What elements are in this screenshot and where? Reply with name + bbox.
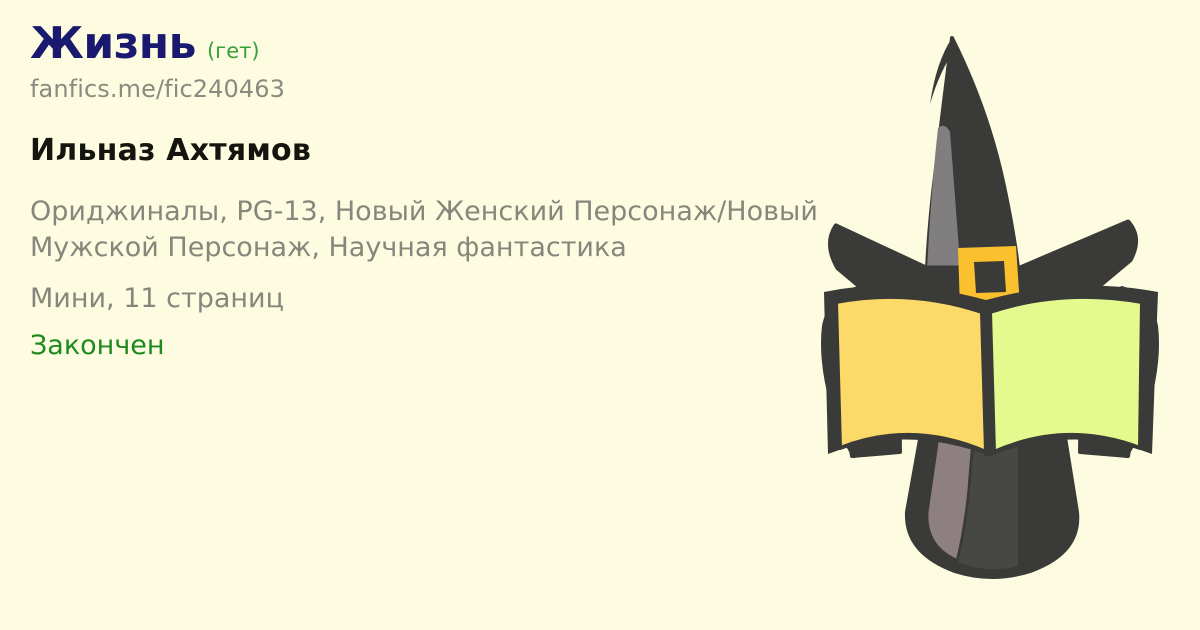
- fanfic-preview-card: Жизнь (гет) fanfics.me/fic240463 Ильназ …: [0, 0, 1200, 630]
- witch-reading-book-icon: [780, 0, 1200, 630]
- genres-list: Ориджиналы, PG-13, Новый Женский Персона…: [30, 194, 820, 265]
- book-page-right: [990, 297, 1142, 452]
- title-row: Жизнь (гет): [30, 22, 820, 66]
- fic-info-column: Жизнь (гет) fanfics.me/fic240463 Ильназ …: [30, 22, 820, 363]
- category-tag: (гет): [207, 41, 260, 62]
- page-title: Жизнь: [30, 22, 196, 66]
- author-name: Ильназ Ахтямов: [30, 133, 820, 168]
- source-url: fanfics.me/fic240463: [30, 75, 820, 103]
- size-and-pages: Мини, 11 страниц: [30, 281, 820, 316]
- status-badge: Закончен: [30, 328, 820, 363]
- witch-illustration: [780, 0, 1200, 630]
- book-page-left: [836, 297, 986, 452]
